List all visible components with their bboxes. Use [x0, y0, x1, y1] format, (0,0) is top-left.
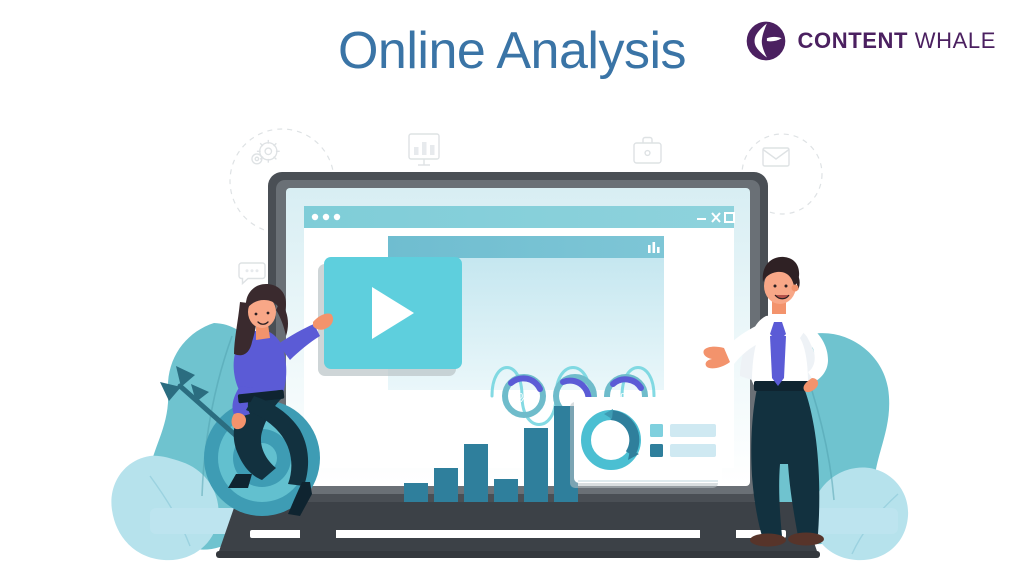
titlebar-dot	[312, 214, 318, 220]
content-whale-logo-mark	[743, 18, 789, 64]
brand-word-content: CONTENT	[798, 28, 909, 53]
legend-bar	[670, 444, 716, 457]
donut-chart-card	[570, 397, 722, 488]
legend-bar	[670, 424, 716, 437]
slide-canvas: Online Analysis CONTENT WHALE	[0, 0, 1024, 576]
legend-swatch	[650, 424, 663, 437]
bar-chart-monitor-icon	[409, 134, 439, 165]
video-player-card[interactable]	[318, 257, 462, 376]
online-analysis-illustration: % % %	[0, 96, 1024, 576]
brand-word-whale: WHALE	[915, 28, 996, 53]
brand-wordmark: CONTENT WHALE	[798, 28, 997, 54]
gauge-1-label: %	[518, 390, 530, 405]
brand-logo[interactable]: CONTENT WHALE	[743, 18, 997, 64]
envelope-icon	[763, 148, 789, 166]
briefcase-icon	[634, 138, 661, 164]
titlebar-dot	[323, 214, 329, 220]
legend-swatch	[650, 444, 663, 457]
titlebar-dot	[334, 214, 340, 220]
dashboard-panel-header	[388, 236, 664, 258]
chat-bubble-icon	[239, 263, 265, 284]
gears-icon	[252, 140, 280, 164]
browser-titlebar	[304, 206, 734, 228]
